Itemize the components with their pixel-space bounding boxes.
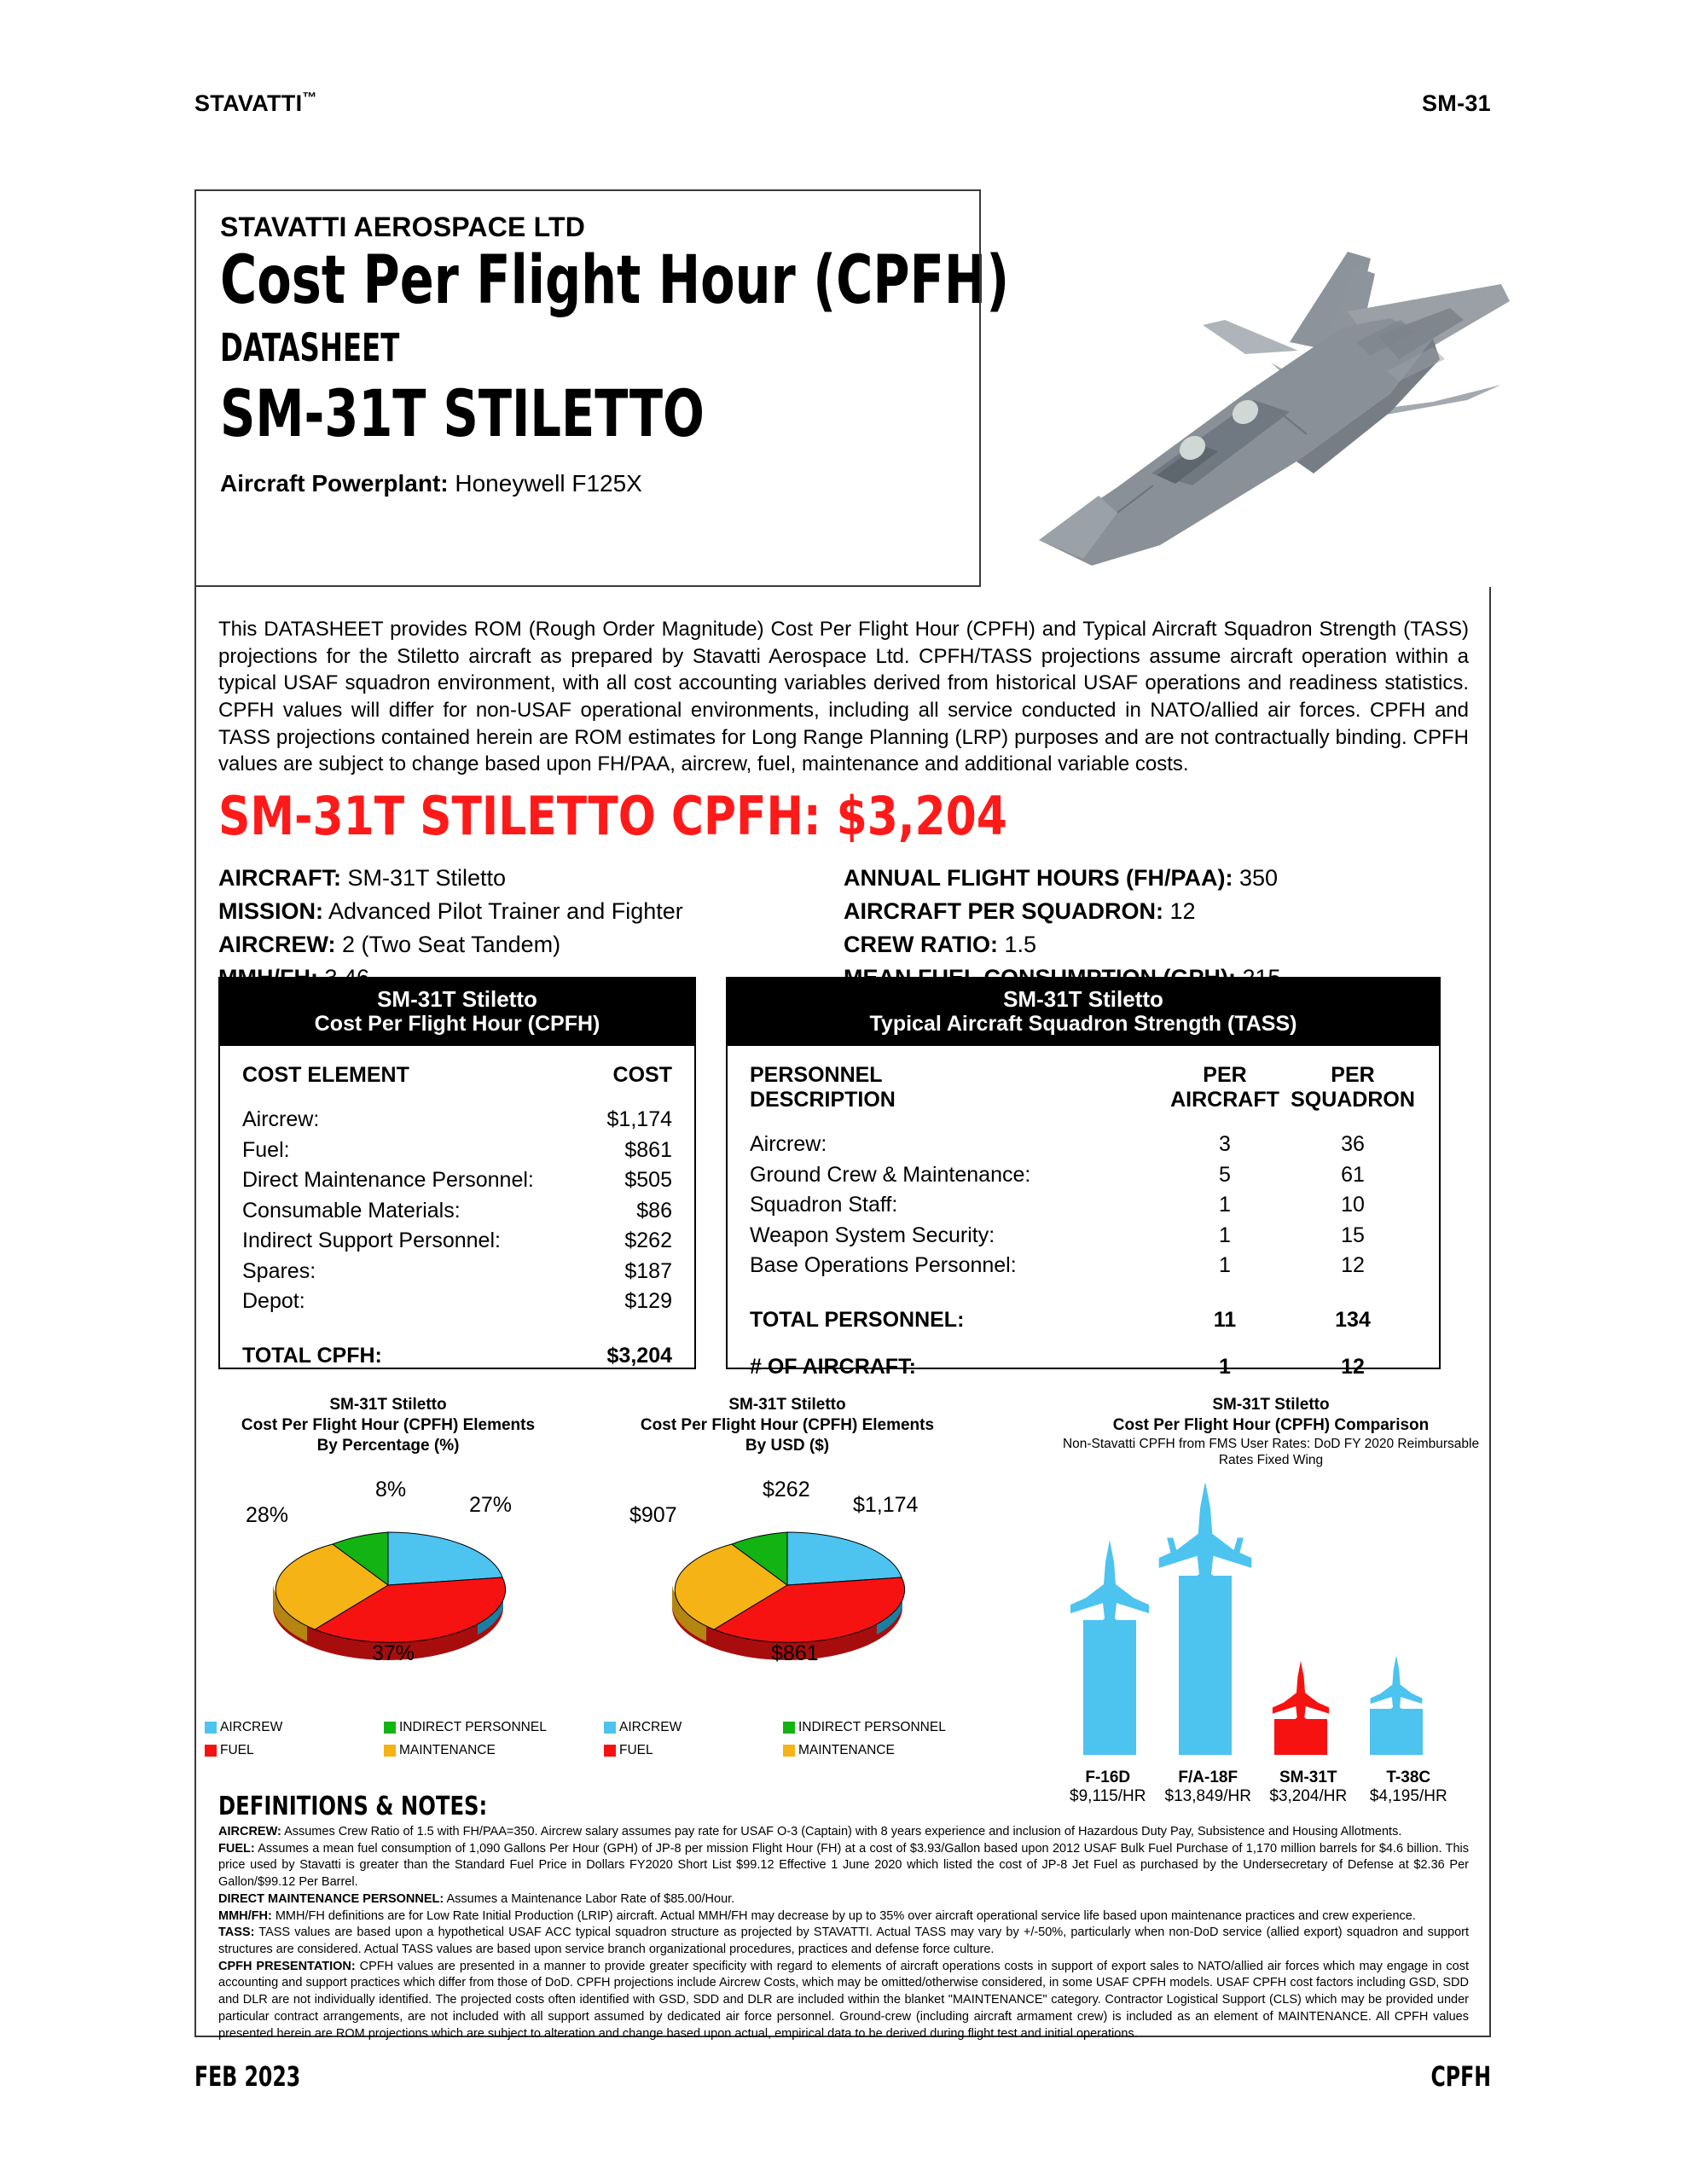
tass-total-row: TOTAL PERSONNEL:11134: [750, 1305, 1417, 1336]
cpfh-table: SM-31T Stiletto Cost Per Flight Hour (CP…: [218, 977, 696, 1369]
legend-swatch-maintenance: [384, 1745, 396, 1757]
specs-column-right: ANNUAL FLIGHT HOURS (FH/PAA): 350 AIRCRA…: [238, 862, 863, 995]
pie-label-maintenance-usd: $907: [629, 1503, 677, 1528]
bar-chart-title: SM-31T Stiletto Cost Per Flight Hour (CP…: [1058, 1395, 1484, 1436]
legend-swatch-fuel: [205, 1745, 217, 1757]
tass-aircraft-row: # OF AIRCRAFT:112: [750, 1352, 1417, 1383]
legend-item-aircrew: AIRCREW: [604, 1720, 783, 1735]
tass-table: SM-31T Stiletto Typical Aircraft Squadro…: [726, 977, 1441, 1369]
table-row: Fuel:$861: [242, 1136, 672, 1166]
legend-item-aircrew: AIRCREW: [205, 1720, 384, 1735]
spec-value: 12: [1163, 898, 1196, 924]
cpfh-table-body: COST ELEMENT COST Aircrew:$1,174 Fuel:$8…: [220, 1046, 694, 1371]
cpfh-table-title: SM-31T Stiletto: [225, 987, 689, 1012]
pie-usd-legend: AIRCREW INDIRECT PERSONNEL FUEL MAINTENA…: [604, 1720, 962, 1766]
pie-chart-usd-title: SM-31T Stiletto Cost Per Flight Hour (CP…: [604, 1395, 971, 1455]
specs-block: AIRCRAFT: SM-31T Stiletto MISSION: Advan…: [218, 862, 1469, 995]
powerplant-label: Aircraft Powerplant:: [220, 470, 449, 497]
document-title: Cost Per Flight Hour (CPFH): [220, 248, 858, 313]
spec-label: CREW RATIO:: [844, 932, 998, 957]
definitions-heading: DEFINITIONS & NOTES:: [218, 1792, 1343, 1821]
legend-swatch-indirect-personnel: [783, 1722, 795, 1734]
document-type: DATASHEET: [220, 325, 827, 370]
aircraft-model: SM-31T STILETTO: [220, 375, 858, 451]
bar-chart-graphic: [1058, 1484, 1459, 1765]
definition-mmhfh: MMH/FH: MMH/FH definitions are for Low R…: [218, 1908, 1469, 1926]
pie-chart-percentage-title: SM-31T Stiletto Cost Per Flight Hour (CP…: [205, 1395, 571, 1455]
spec-value: 350: [1239, 865, 1278, 891]
running-head: STAVATTI™ SM-31: [194, 90, 1491, 117]
pie-chart-usd: SM-31T Stiletto Cost Per Flight Hour (CP…: [604, 1395, 971, 1766]
masthead-divider: [979, 189, 981, 587]
pie-label-fuel-usd: $861: [771, 1641, 819, 1666]
cpfh-table-header: SM-31T Stiletto Cost Per Flight Hour (CP…: [220, 979, 694, 1046]
cpfh-table-subtitle: Cost Per Flight Hour (CPFH): [225, 1012, 689, 1037]
table-row: Spares:$187: [242, 1257, 672, 1287]
table-row: Aircrew:336: [750, 1130, 1417, 1160]
aircraft-illustration: [989, 192, 1518, 584]
cpfh-total-row: TOTAL CPFH:$3,204: [242, 1341, 672, 1372]
legend-item-fuel: FUEL: [604, 1743, 783, 1758]
tass-table-title: SM-31T Stiletto: [733, 987, 1434, 1012]
company-name: STAVATTI AEROSPACE LTD: [220, 212, 979, 243]
definition-fuel: FUEL: Assumes a mean fuel consumption of…: [218, 1841, 1469, 1891]
powerplant-row: Aircraft Powerplant: Honeywell F125X: [220, 470, 979, 497]
pie-label-indirect: 8%: [375, 1478, 406, 1502]
trademark-symbol: ™: [302, 90, 316, 106]
definition-direct-maintenance-personnel: DIRECT MAINTENANCE PERSONNEL: Assumes a …: [218, 1891, 1469, 1908]
table-row: Ground Crew & Maintenance:561: [750, 1160, 1417, 1191]
legend-item-indirect-personnel: INDIRECT PERSONNEL: [783, 1720, 962, 1735]
running-head-left: STAVATTI™: [194, 90, 317, 117]
legend-swatch-indirect-personnel: [384, 1722, 396, 1734]
pie-label-aircrew: 27%: [469, 1493, 512, 1518]
tass-table-header: SM-31T Stiletto Typical Aircraft Squadro…: [728, 979, 1439, 1046]
table-row: Aircrew:$1,174: [242, 1105, 672, 1136]
pie-label-maintenance: 28%: [246, 1503, 288, 1528]
cpfh-col-cost: COST: [544, 1063, 672, 1088]
powerplant-value: Honeywell F125X: [455, 470, 641, 497]
pie-usd-graphic: $262 $1,174 $907 $861: [604, 1474, 971, 1670]
spec-crew-ratio: CREW RATIO: 1.5: [844, 928, 863, 961]
legend-swatch-aircrew: [604, 1722, 616, 1734]
tass-column-headers-line2: DESCRIPTION AIRCRAFT SQUADRON: [750, 1088, 1417, 1112]
tass-table-subtitle: Typical Aircraft Squadron Strength (TASS…: [733, 1012, 1434, 1037]
pie-chart-percentage: SM-31T Stiletto Cost Per Flight Hour (CP…: [205, 1395, 571, 1766]
spec-label: ANNUAL FLIGHT HOURS (FH/PAA):: [844, 865, 1233, 891]
page-footer: FEB 2023 CPFH: [194, 2060, 1491, 2093]
tass-column-headers-line1: PERSONNEL PER PER: [750, 1063, 1417, 1088]
datasheet-page: STAVATTI™ SM-31 STAVATTI AEROSPACE LTD C…: [0, 0, 1688, 2184]
tables-row: SM-31T Stiletto Cost Per Flight Hour (CP…: [218, 977, 1469, 1369]
footer-date: FEB 2023: [194, 2060, 300, 2093]
table-row: Squadron Staff:110: [750, 1190, 1417, 1221]
cpfh-col-element: COST ELEMENT: [242, 1063, 544, 1088]
pie-percentage-legend: AIRCREW INDIRECT PERSONNEL FUEL MAINTENA…: [205, 1720, 563, 1766]
cpfh-headline: SM-31T STILETTO CPFH: $3,204: [218, 785, 1381, 847]
legend-swatch-fuel: [604, 1745, 616, 1757]
spec-label: AIRCRAFT PER SQUADRON:: [844, 898, 1163, 924]
intro-paragraph: This DATASHEET provides ROM (Rough Order…: [218, 616, 1469, 778]
masthead: STAVATTI AEROSPACE LTD Cost Per Flight H…: [194, 189, 979, 587]
legend-item-indirect-personnel: INDIRECT PERSONNEL: [384, 1720, 563, 1735]
spec-aircraft-per-squadron: AIRCRAFT PER SQUADRON: 12: [844, 895, 863, 928]
bar-chart-subtitle: Non-Stavatti CPFH from FMS User Rates: D…: [1058, 1436, 1484, 1469]
footer-label: CPFH: [1430, 2060, 1491, 2093]
table-row: Weapon System Security:115: [750, 1221, 1417, 1252]
table-row: Indirect Support Personnel:$262: [242, 1226, 672, 1257]
pie-label-fuel: 37%: [372, 1641, 415, 1666]
table-row: Depot:$129: [242, 1287, 672, 1317]
pie-label-aircrew-usd: $1,174: [853, 1493, 918, 1518]
legend-item-maintenance: MAINTENANCE: [384, 1743, 563, 1758]
legend-item-maintenance: MAINTENANCE: [783, 1743, 962, 1758]
cpfh-column-headers: COST ELEMENT COST: [242, 1063, 672, 1088]
definition-aircrew: AIRCREW: Assumes Crew Ratio of 1.5 with …: [218, 1824, 1469, 1841]
definition-cpfh-presentation: CPFH PRESENTATION: CPFH values are prese…: [218, 1959, 1469, 2043]
table-row: Base Operations Personnel:112: [750, 1251, 1417, 1281]
table-row: Consumable Materials:$86: [242, 1196, 672, 1227]
table-row: Direct Maintenance Personnel:$505: [242, 1165, 672, 1196]
legend-swatch-aircrew: [205, 1722, 217, 1734]
running-head-right: SM-31: [1422, 90, 1491, 117]
legend-item-fuel: FUEL: [205, 1743, 384, 1758]
pie-percentage-graphic: 8% 27% 28% 37%: [205, 1474, 571, 1670]
spec-annual-flight-hours: ANNUAL FLIGHT HOURS (FH/PAA): 350: [844, 862, 863, 895]
bar-chart-comparison: SM-31T Stiletto Cost Per Flight Hour (CP…: [1058, 1395, 1484, 1806]
spec-value: 1.5: [1005, 932, 1037, 957]
pie-label-indirect-usd: $262: [763, 1478, 810, 1502]
definition-tass: TASS: TASS values are based upon a hypot…: [218, 1925, 1469, 1958]
legend-swatch-maintenance: [783, 1745, 795, 1757]
tass-table-body: PERSONNEL PER PER DESCRIPTION AIRCRAFT S…: [728, 1046, 1439, 1383]
definitions-section: DEFINITIONS & NOTES: AIRCREW: Assumes Cr…: [218, 1792, 1469, 2042]
